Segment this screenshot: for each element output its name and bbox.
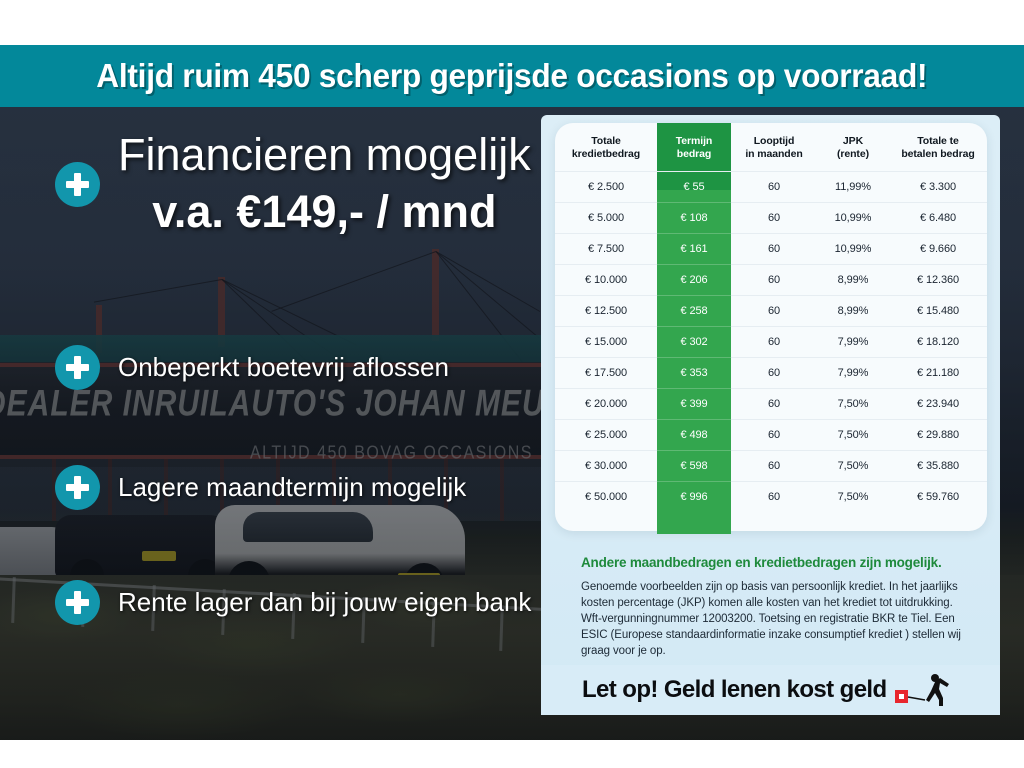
table-header-row: Totale kredietbedrag Termijn bedrag Loop… <box>555 123 987 172</box>
table-cell: € 35.880 <box>889 451 987 482</box>
table-cell: € 206 <box>657 265 731 296</box>
table-cell: 60 <box>731 203 817 234</box>
table-row: € 20.000€ 399607,50%€ 23.940 <box>555 389 987 420</box>
table-row: € 15.000€ 302607,99%€ 18.120 <box>555 327 987 358</box>
plus-icon <box>55 580 100 625</box>
benefit-label: Lagere maandtermijn mogelijk <box>118 472 466 503</box>
table-cell: 7,50% <box>817 451 889 482</box>
column-header-term: Looptijd in maanden <box>731 123 817 172</box>
table-cell: 7,50% <box>817 482 889 513</box>
promo-headline-lines: Financieren mogelijk v.a. €149,- / mnd <box>118 127 531 241</box>
benefit-item-2: Lagere maandtermijn mogelijk <box>55 465 466 510</box>
plus-icon <box>55 345 100 390</box>
benefits-list: Financieren mogelijk v.a. €149,- / mnd O… <box>0 107 545 740</box>
table-cell: 60 <box>731 172 817 203</box>
table-cell: € 12.360 <box>889 265 987 296</box>
table-cell: € 23.940 <box>889 389 987 420</box>
benefit-label: Onbeperkt boetevrij aflossen <box>118 352 449 383</box>
table-cell: € 17.500 <box>555 358 657 389</box>
header-line2: (rente) <box>837 148 869 160</box>
header-line1: Totale <box>591 135 621 147</box>
column-header-total-payable: Totale te betalen bedrag <box>889 123 987 172</box>
table-cell: € 7.500 <box>555 234 657 265</box>
table-cell: 8,99% <box>817 296 889 327</box>
advertisement-poster: Altijd ruim 450 scherp geprijsde occasio… <box>0 0 1024 768</box>
table-cell: 7,99% <box>817 327 889 358</box>
top-banner: Altijd ruim 450 scherp geprijsde occasio… <box>0 45 1024 107</box>
table-cell: € 30.000 <box>555 451 657 482</box>
table-cell: € 399 <box>657 389 731 420</box>
table-cell: € 18.120 <box>889 327 987 358</box>
table-cell: € 258 <box>657 296 731 327</box>
table-cell: € 9.660 <box>889 234 987 265</box>
header-line1: Totale te <box>917 135 959 147</box>
benefit-label: Rente lager dan bij jouw eigen bank <box>118 587 531 618</box>
table-cell: € 20.000 <box>555 389 657 420</box>
table-cell: € 2.500 <box>555 172 657 203</box>
table-row: € 30.000€ 598607,50%€ 35.880 <box>555 451 987 482</box>
credit-warning-strip: Let op! Geld lenen kost geld <box>541 665 1000 715</box>
table-cell: € 302 <box>657 327 731 358</box>
table-row: € 50.000€ 996607,50%€ 59.760 <box>555 482 987 513</box>
benefit-item-3: Rente lager dan bij jouw eigen bank <box>55 580 531 625</box>
table-cell: € 12.500 <box>555 296 657 327</box>
note-body: Genoemde voorbeelden zijn op basis van p… <box>581 579 965 659</box>
afm-walking-man-icon <box>895 673 953 707</box>
header-line2: in maanden <box>745 148 802 160</box>
table-cell: € 10.000 <box>555 265 657 296</box>
table-row: € 25.000€ 498607,50%€ 29.880 <box>555 420 987 451</box>
table-cell: 60 <box>731 265 817 296</box>
table-cell: € 21.180 <box>889 358 987 389</box>
table-cell: 60 <box>731 296 817 327</box>
table-cell: € 15.480 <box>889 296 987 327</box>
table-cell: € 55 <box>657 172 731 203</box>
table-cell: 8,99% <box>817 265 889 296</box>
table-row: € 5.000€ 1086010,99%€ 6.480 <box>555 203 987 234</box>
table-cell: € 25.000 <box>555 420 657 451</box>
table-cell: € 498 <box>657 420 731 451</box>
table-cell: € 996 <box>657 482 731 513</box>
finance-panel: Totale kredietbedrag Termijn bedrag Loop… <box>541 115 1000 715</box>
table-cell: 7,50% <box>817 420 889 451</box>
table-cell: 60 <box>731 358 817 389</box>
disclaimer-note: Andere maandbedragen en kredietbedragen … <box>581 555 965 659</box>
table-cell: 10,99% <box>817 203 889 234</box>
header-line1: JPK <box>843 135 863 147</box>
table-cell: 60 <box>731 482 817 513</box>
promo-headline-line2: v.a. €149,- / mnd <box>118 183 531 241</box>
table-cell: € 15.000 <box>555 327 657 358</box>
header-line1: Looptijd <box>754 135 795 147</box>
header-line2: kredietbedrag <box>572 148 640 160</box>
table-cell: 60 <box>731 389 817 420</box>
table-row: € 12.500€ 258608,99%€ 15.480 <box>555 296 987 327</box>
note-title: Andere maandbedragen en kredietbedragen … <box>581 555 965 570</box>
table-cell: € 29.880 <box>889 420 987 451</box>
table-row: € 2.500€ 556011,99%€ 3.300 <box>555 172 987 203</box>
table-row: € 10.000€ 206608,99%€ 12.360 <box>555 265 987 296</box>
table-row: € 17.500€ 353607,99%€ 21.180 <box>555 358 987 389</box>
table-cell: 7,99% <box>817 358 889 389</box>
table-cell: 60 <box>731 327 817 358</box>
table-cell: € 5.000 <box>555 203 657 234</box>
table-cell: € 6.480 <box>889 203 987 234</box>
credit-warning-text: Let op! Geld lenen kost geld <box>582 676 887 704</box>
promo-headline-block: Financieren mogelijk v.a. €149,- / mnd <box>55 127 531 241</box>
table-cell: 60 <box>731 234 817 265</box>
table-row: € 7.500€ 1616010,99%€ 9.660 <box>555 234 987 265</box>
column-header-apr: JPK (rente) <box>817 123 889 172</box>
column-header-total-credit: Totale kredietbedrag <box>555 123 657 172</box>
table-cell: € 59.760 <box>889 482 987 513</box>
table-cell: 60 <box>731 451 817 482</box>
table-cell: 7,50% <box>817 389 889 420</box>
header-line1: Termijn <box>676 135 712 147</box>
header-line2: bedrag <box>677 148 711 160</box>
table-cell: € 353 <box>657 358 731 389</box>
rate-table-body: € 2.500€ 556011,99%€ 3.300€ 5.000€ 10860… <box>555 172 987 513</box>
banner-headline: Altijd ruim 450 scherp geprijsde occasio… <box>97 57 928 95</box>
table-cell: € 3.300 <box>889 172 987 203</box>
table-cell: € 598 <box>657 451 731 482</box>
table-cell: € 50.000 <box>555 482 657 513</box>
finance-rate-table: Totale kredietbedrag Termijn bedrag Loop… <box>555 123 987 512</box>
promo-headline-line1: Financieren mogelijk <box>118 127 531 183</box>
table-cell: 60 <box>731 420 817 451</box>
table-cell: € 108 <box>657 203 731 234</box>
plus-icon <box>55 465 100 510</box>
column-header-monthly-amount: Termijn bedrag <box>657 123 731 172</box>
table-cell: 10,99% <box>817 234 889 265</box>
header-line2: betalen bedrag <box>901 148 974 160</box>
benefit-item-1: Onbeperkt boetevrij aflossen <box>55 345 449 390</box>
plus-icon <box>55 162 100 207</box>
table-cell: € 161 <box>657 234 731 265</box>
table-cell: 11,99% <box>817 172 889 203</box>
